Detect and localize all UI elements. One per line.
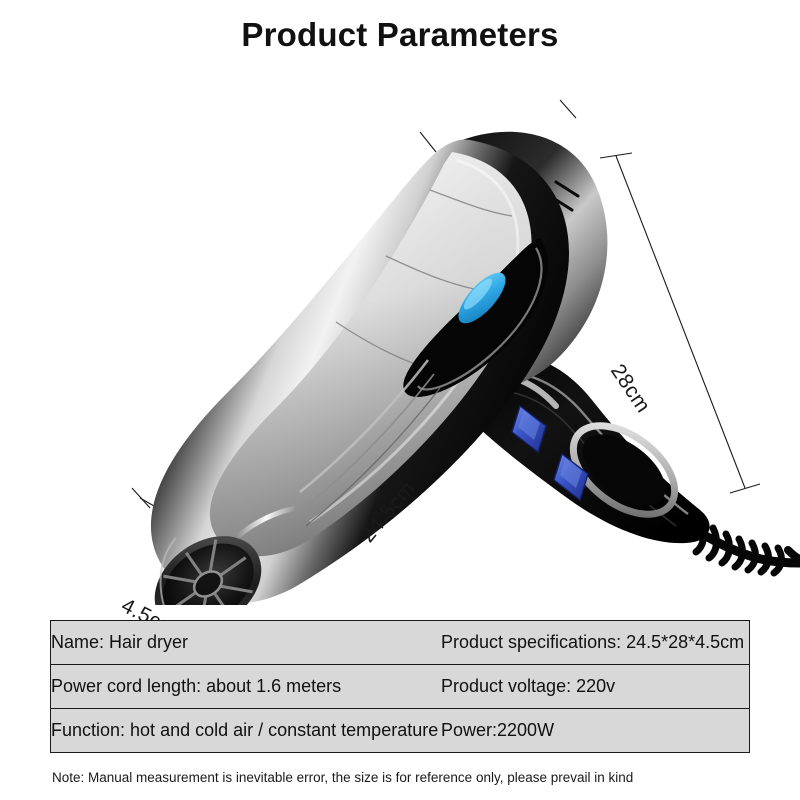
- power-cord: [695, 522, 800, 573]
- table-row: Power cord length: about 1.6 meters Prod…: [51, 665, 750, 709]
- spec-function: Function: hot and cold air / constant te…: [51, 709, 442, 753]
- spec-cord-length: Power cord length: about 1.6 meters: [51, 665, 442, 709]
- spec-name-label: Name: Hair dryer: [51, 621, 442, 665]
- page-title: Product Parameters: [0, 16, 800, 54]
- product-parameters-infographic: Product Parameters: [0, 0, 800, 800]
- spec-power: Power:2200W: [441, 709, 750, 753]
- hair-dryer-body: [136, 132, 800, 605]
- measurement-note: Note: Manual measurement is inevitable e…: [52, 770, 633, 785]
- product-illustration: 4.5cm 24.5cm 28cm: [0, 60, 800, 605]
- spec-voltage: Product voltage: 220v: [441, 665, 750, 709]
- specifications-table: Name: Hair dryer Product specifications:…: [50, 620, 750, 753]
- table-row: Name: Hair dryer Product specifications:…: [51, 621, 750, 665]
- spec-dimensions-value: Product specifications: 24.5*28*4.5cm: [441, 621, 750, 665]
- table-row: Function: hot and cold air / constant te…: [51, 709, 750, 753]
